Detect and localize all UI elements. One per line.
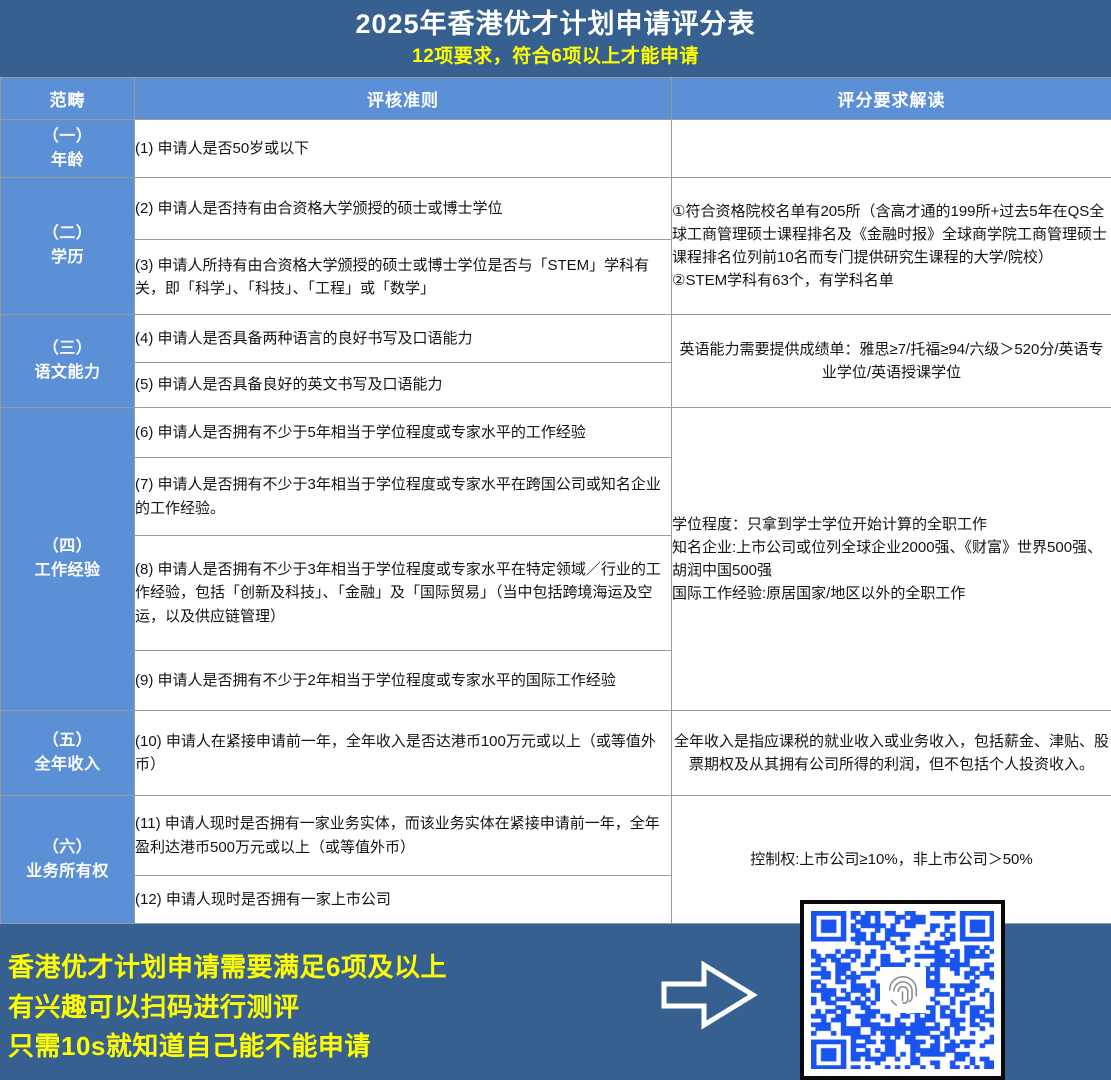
footer-line-2: 有兴趣可以扫码进行测评 bbox=[8, 988, 447, 1028]
note-cell-5: 全年收入是指应课税的就业收入或业务收入，包括薪金、津贴、股票期权及从其拥有公司所… bbox=[672, 711, 1111, 796]
table-header-row: 范畴 评核准则 评分要求解读 bbox=[1, 78, 1111, 120]
poster-root: 2025年香港优才计划申请评分表 12项要求，符合6项以上才能申请 范畴 评核准… bbox=[0, 0, 1111, 1080]
criteria-cell: (2) 申请人是否持有由合资格大学颁授的硕士或博士学位 bbox=[135, 178, 672, 240]
category-name: 业务所有权 bbox=[1, 860, 134, 884]
qr-inner bbox=[811, 911, 994, 1069]
table-row: （二）学历(2) 申请人是否持有由合资格大学颁授的硕士或博士学位①符合资格院校名… bbox=[1, 178, 1111, 240]
category-name: 学历 bbox=[1, 246, 134, 270]
footer-text-block: 香港优才计划申请需要满足6项及以上 有兴趣可以扫码进行测评 只需10s就知道自己… bbox=[8, 948, 447, 1067]
category-cell-4: （四）工作经验 bbox=[1, 408, 135, 711]
criteria-cell: (1) 申请人是否50岁或以下 bbox=[135, 120, 672, 178]
page-subtitle: 12项要求，符合6项以上才能申请 bbox=[0, 44, 1111, 71]
note-cell-1 bbox=[672, 120, 1111, 178]
category-number: （一） bbox=[1, 125, 134, 149]
criteria-cell: (7) 申请人是否拥有不少于3年相当于学位程度或专家水平在跨国公司或知名企业的工… bbox=[135, 458, 672, 536]
category-number: （六） bbox=[1, 836, 134, 860]
footer-line-3: 只需10s就知道自己能不能申请 bbox=[8, 1027, 447, 1067]
note-cell-2: ①符合资格院校名单有205所（含高才通的199所+过去5年在QS全球工商管理硕士… bbox=[672, 178, 1111, 315]
category-number: （五） bbox=[1, 729, 134, 753]
scoring-table-wrap: 范畴 评核准则 评分要求解读 （一）年龄(1) 申请人是否50岁或以下（二）学历… bbox=[0, 77, 1111, 924]
table-row: （一）年龄(1) 申请人是否50岁或以下 bbox=[1, 120, 1111, 178]
category-name: 语文能力 bbox=[1, 361, 134, 385]
category-name: 工作经验 bbox=[1, 559, 134, 583]
qr-code[interactable] bbox=[800, 900, 1005, 1080]
note-cell-3: 英语能力需要提供成绩单：雅思≥7/托福≥94/六级＞520分/英语专业学位/英语… bbox=[672, 315, 1111, 408]
fingerprint-icon bbox=[880, 967, 926, 1013]
category-cell-6: （六）业务所有权 bbox=[1, 796, 135, 924]
category-name: 全年收入 bbox=[1, 753, 134, 777]
category-cell-2: （二）学历 bbox=[1, 178, 135, 315]
table-row: （四）工作经验(6) 申请人是否拥有不少于5年相当于学位程度或专家水平的工作经验… bbox=[1, 408, 1111, 458]
category-cell-5: （五）全年收入 bbox=[1, 711, 135, 796]
criteria-cell: (9) 申请人是否拥有不少于2年相当于学位程度或专家水平的国际工作经验 bbox=[135, 651, 672, 711]
page-title: 2025年香港优才计划申请评分表 bbox=[0, 6, 1111, 42]
category-cell-1: （一）年龄 bbox=[1, 120, 135, 178]
category-number: （四） bbox=[1, 535, 134, 559]
footer-line-1: 香港优才计划申请需要满足6项及以上 bbox=[8, 948, 447, 988]
table-row: （三）语文能力(4) 申请人是否具备两种语言的良好书写及口语能力英语能力需要提供… bbox=[1, 315, 1111, 363]
category-name: 年龄 bbox=[1, 149, 134, 173]
table-row: （五）全年收入(10) 申请人在紧接申请前一年，全年收入是否达港币100万元或以… bbox=[1, 711, 1111, 796]
category-cell-3: （三）语文能力 bbox=[1, 315, 135, 408]
column-header-notes: 评分要求解读 bbox=[672, 78, 1111, 120]
column-header-category: 范畴 bbox=[1, 78, 135, 120]
category-number: （三） bbox=[1, 337, 134, 361]
criteria-cell: (4) 申请人是否具备两种语言的良好书写及口语能力 bbox=[135, 315, 672, 363]
category-number: （二） bbox=[1, 222, 134, 246]
criteria-cell: (10) 申请人在紧接申请前一年，全年收入是否达港币100万元或以上（或等值外币… bbox=[135, 711, 672, 796]
criteria-cell: (11) 申请人现时是否拥有一家业务实体，而该业务实体在紧接申请前一年，全年盈利… bbox=[135, 796, 672, 876]
criteria-cell: (5) 申请人是否具备良好的英文书写及口语能力 bbox=[135, 363, 672, 408]
arrow-right-icon bbox=[660, 958, 758, 1032]
column-header-criteria: 评核准则 bbox=[135, 78, 672, 120]
scoring-table: 范畴 评核准则 评分要求解读 （一）年龄(1) 申请人是否50岁或以下（二）学历… bbox=[0, 77, 1111, 924]
note-cell-4: 学位程度：只拿到学士学位开始计算的全职工作 知名企业:上市公司或位列全球企业20… bbox=[672, 408, 1111, 711]
criteria-cell: (12) 申请人现时是否拥有一家上市公司 bbox=[135, 876, 672, 924]
criteria-cell: (6) 申请人是否拥有不少于5年相当于学位程度或专家水平的工作经验 bbox=[135, 408, 672, 458]
criteria-cell: (3) 申请人所持有由合资格大学颁授的硕士或博士学位是否与「STEM」学科有关，… bbox=[135, 240, 672, 315]
poster-header: 2025年香港优才计划申请评分表 12项要求，符合6项以上才能申请 bbox=[0, 0, 1111, 77]
scoring-table-body: （一）年龄(1) 申请人是否50岁或以下（二）学历(2) 申请人是否持有由合资格… bbox=[1, 120, 1111, 924]
table-row: （六）业务所有权(11) 申请人现时是否拥有一家业务实体，而该业务实体在紧接申请… bbox=[1, 796, 1111, 876]
criteria-cell: (8) 申请人是否拥有不少于3年相当于学位程度或专家水平在特定领域／行业的工作经… bbox=[135, 536, 672, 651]
